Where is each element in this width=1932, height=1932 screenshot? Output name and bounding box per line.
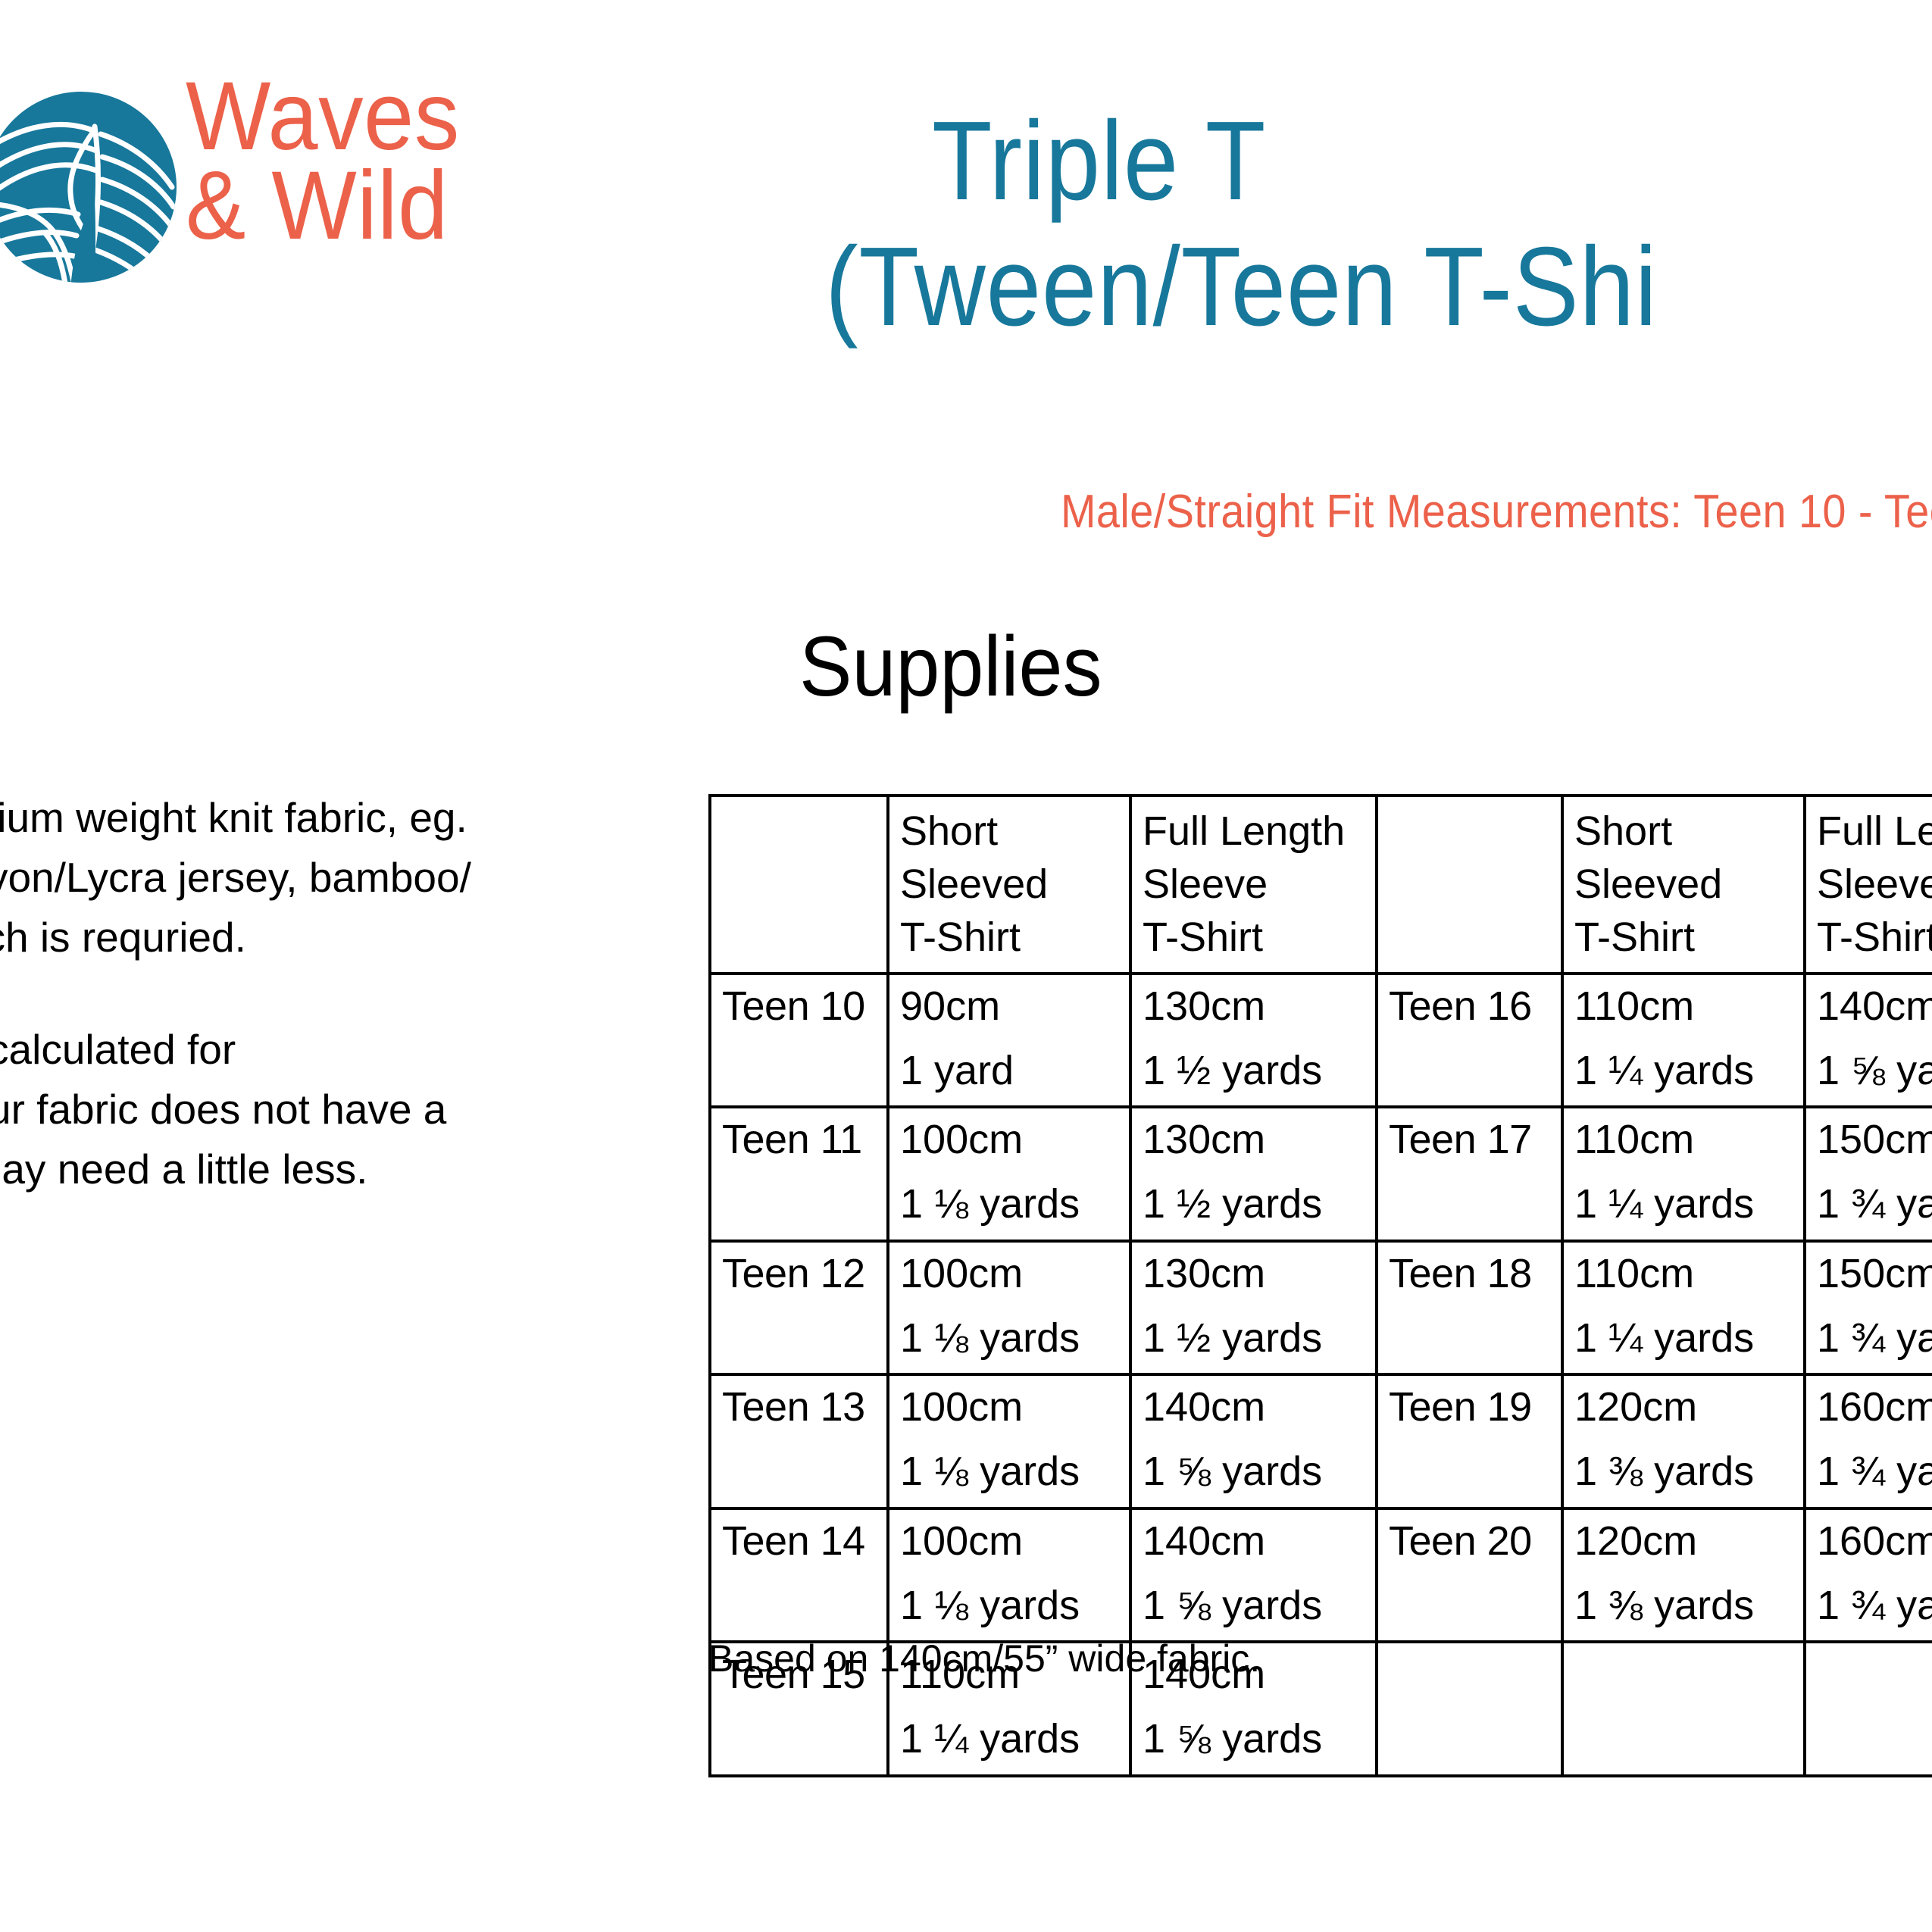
header-short-sleeved-right: Short Sleeved T-Shirt: [1562, 796, 1805, 974]
table-row: Teen 12 100cm 1 ⅛ yards 130cm 1 ½ yards …: [710, 1241, 1932, 1375]
cell-left-short: 100cm 1 ⅛ yards: [888, 1374, 1130, 1508]
note-line-6: print, you may need a little less.: [0, 1140, 580, 1199]
table-row: Teen 10 90cm 1 yard 130cm 1 ½ yards Teen…: [710, 974, 1932, 1108]
header-blank-right: [1377, 796, 1562, 974]
cell-left-short: 100cm 1 ⅛ yards: [888, 1107, 1130, 1241]
header-blank-left: [710, 796, 888, 974]
page-subtitle: Male/Straight Fit Measurements: Teen 10 …: [1061, 485, 1932, 539]
title-block: Triple T (Tween/Teen T-Shi Male/Straight…: [932, 98, 1932, 350]
size-label-right: [1377, 1642, 1562, 1776]
header-full-length-left: Full Length Sleeve T-Shirt: [1130, 796, 1377, 974]
page-title-line-2: (Tween/Teen T-Shi: [825, 224, 1932, 350]
size-label-left: Teen 13: [710, 1374, 888, 1508]
supplies-table-container: Short Sleeved T-Shirt Full Length Sleeve…: [708, 794, 1932, 1777]
supplies-section-heading: Supplies: [799, 617, 1102, 715]
size-label-right: Teen 16: [1377, 974, 1562, 1108]
brand-wordmark: Waves & Wild: [186, 72, 489, 251]
cell-left-short: 90cm 1 yard: [888, 974, 1130, 1108]
tree-in-circle-logo-icon: [0, 87, 182, 288]
cell-right-full: 160cm 1 ¾ ya: [1805, 1508, 1932, 1643]
page-title: Triple T (Tween/Teen T-Shi: [932, 98, 1932, 350]
cell-right-short: 120cm 1 ⅜ yards: [1562, 1508, 1805, 1643]
cell-left-full: 130cm 1 ½ yards: [1130, 974, 1377, 1108]
header-short-sleeved-left: Short Sleeved T-Shirt: [888, 796, 1130, 974]
cell-right-short: 110cm 1 ¼ yards: [1562, 1241, 1805, 1375]
cell-left-short: 100cm 1 ⅛ yards: [888, 1508, 1130, 1643]
size-label-left: Teen 12: [710, 1241, 888, 1375]
header-full-length-right: Full Le Sleeve T-Shirt: [1805, 796, 1932, 974]
cell-right-full: 160cm 1 ¾ ya: [1805, 1374, 1932, 1508]
size-label-left: Teen 11: [710, 1107, 888, 1241]
cell-right-short: 110cm 1 ¼ yards: [1562, 1107, 1805, 1241]
brand-name-line-1: Waves: [186, 72, 489, 161]
cell-left-full: 140cm 1 ⅝ yards: [1130, 1508, 1377, 1643]
table-header-row: Short Sleeved T-Shirt Full Length Sleeve…: [710, 796, 1932, 974]
note-line-4: yardage is calculated for: [0, 1020, 580, 1080]
size-label-right: Teen 17: [1377, 1107, 1562, 1241]
table-footnote: Based on 140cm/55” wide fabric.: [708, 1637, 1260, 1680]
size-label-right: Teen 20: [1377, 1508, 1562, 1643]
table-row: Teen 13 100cm 1 ⅛ yards 140cm 1 ⅝ yards …: [710, 1374, 1932, 1508]
note-line-5: fabric. If your fabric does not have a: [0, 1080, 580, 1140]
brand-logo: Waves & Wild: [0, 72, 515, 322]
cell-left-full: 130cm 1 ½ yards: [1130, 1241, 1377, 1375]
cell-right-short: 110cm 1 ¼ yards: [1562, 974, 1805, 1108]
notes-spacer: [0, 968, 580, 1020]
size-label-right: Teen 19: [1377, 1374, 1562, 1508]
table-row: Teen 11 100cm 1 ⅛ yards 130cm 1 ½ yards …: [710, 1107, 1932, 1241]
cell-right-full: 140cm 1 ⅝ ya: [1805, 974, 1932, 1108]
size-label-right: Teen 18: [1377, 1241, 1562, 1375]
cell-right-full: 150cm 1 ¾ ya: [1805, 1107, 1932, 1241]
note-line-2: a jersey, rayon/Lycra jersey, bamboo/: [0, 848, 580, 908]
cell-left-full: 140cm 1 ⅝ yards: [1130, 1374, 1377, 1508]
size-label-left: Teen 10: [710, 974, 888, 1108]
cell-right-short: [1562, 1642, 1805, 1776]
cell-right-short: 120cm 1 ⅜ yards: [1562, 1374, 1805, 1508]
supplies-table: Short Sleeved T-Shirt Full Length Sleeve…: [708, 794, 1932, 1777]
cell-left-short: 100cm 1 ⅛ yards: [888, 1241, 1130, 1375]
note-line-1: c: light/medium weight knit fabric, eg.: [0, 788, 580, 848]
size-label-left: Teen 14: [710, 1508, 888, 1643]
brand-name-line-2: & Wild: [186, 161, 489, 251]
page-title-line-1: Triple T: [932, 98, 1932, 224]
cell-right-full: [1805, 1642, 1932, 1776]
fabric-notes: c: light/medium weight knit fabric, eg. …: [0, 788, 580, 1199]
cell-left-full: 130cm 1 ½ yards: [1130, 1107, 1377, 1241]
table-row: Teen 14 100cm 1 ⅛ yards 140cm 1 ⅝ yards …: [710, 1508, 1932, 1643]
cell-right-full: 150cm 1 ¾ ya: [1805, 1241, 1932, 1375]
note-line-3: 50%+ stretch is requried.: [0, 908, 580, 968]
